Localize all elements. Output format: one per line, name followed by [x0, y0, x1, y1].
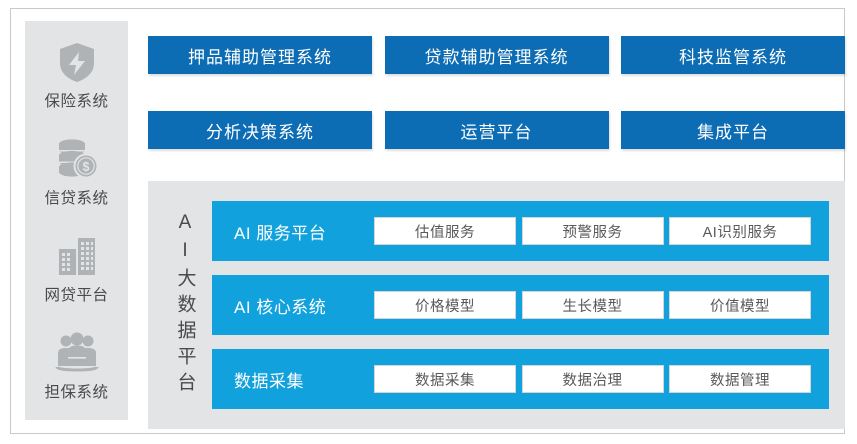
- buildings-icon: [53, 233, 101, 279]
- system-bar-operation-platform[interactable]: 运营平台: [385, 111, 609, 149]
- svg-text:$: $: [82, 160, 89, 174]
- platform-row-data-collection[interactable]: 数据采集 数据采集 数据治理 数据管理: [212, 349, 829, 409]
- top-systems-row-2: 分析决策系统 运营平台 集成平台: [148, 111, 845, 149]
- card-data-collection[interactable]: 数据采集: [374, 365, 516, 393]
- top-systems-row-1: 押品辅助管理系统 贷款辅助管理系统 科技监管系统: [148, 36, 845, 74]
- platform-row-title: AI 服务平台: [234, 219, 374, 244]
- people-group-icon: [53, 330, 101, 376]
- sidebar-item-label: 信贷系统: [44, 186, 108, 208]
- card-value-model[interactable]: 价值模型: [669, 291, 811, 319]
- platform-row-ai-core[interactable]: AI 核心系统 价格模型 生长模型 价值模型: [212, 275, 829, 335]
- system-bar-analysis-decision[interactable]: 分析决策系统: [148, 111, 372, 149]
- ai-bigdata-platform-panel: AI大数据平台 AI 服务平台 估值服务 预警服务 AI识别服务 AI 核心系统…: [148, 181, 845, 429]
- system-bar-collateral-management[interactable]: 押品辅助管理系统: [148, 36, 372, 74]
- card-ai-recognition-service[interactable]: AI识别服务: [669, 217, 811, 245]
- card-group: 价格模型 生长模型 价值模型: [374, 291, 829, 319]
- sidebar-item-label: 网贷平台: [44, 283, 108, 305]
- coins-dollar-icon: $: [53, 136, 101, 182]
- sidebar-item-insurance[interactable]: 保险系统: [25, 39, 128, 111]
- architecture-diagram: 保险系统 $: [10, 8, 845, 434]
- sidebar-item-guarantee[interactable]: 担保系统: [25, 330, 128, 402]
- platform-row-ai-service[interactable]: AI 服务平台 估值服务 预警服务 AI识别服务: [212, 201, 829, 261]
- card-early-warning-service[interactable]: 预警服务: [522, 217, 664, 245]
- card-group: 估值服务 预警服务 AI识别服务: [374, 217, 829, 245]
- card-growth-model[interactable]: 生长模型: [522, 291, 664, 319]
- sidebar-item-online-loan[interactable]: 网贷平台: [25, 233, 128, 305]
- card-valuation-service[interactable]: 估值服务: [374, 217, 516, 245]
- platform-rows: AI 服务平台 估值服务 预警服务 AI识别服务 AI 核心系统 价格模型 生长…: [212, 201, 829, 409]
- card-price-model[interactable]: 价格模型: [374, 291, 516, 319]
- platform-row-title: AI 核心系统: [234, 293, 374, 318]
- sidebar-item-label: 担保系统: [44, 380, 108, 402]
- sidebar-item-credit[interactable]: $ 信贷系统: [25, 136, 128, 208]
- shield-bolt-icon: [54, 39, 100, 85]
- system-bar-loan-management[interactable]: 贷款辅助管理系统: [385, 36, 609, 74]
- sidebar-item-label: 保险系统: [44, 89, 108, 111]
- card-data-management[interactable]: 数据管理: [669, 365, 811, 393]
- card-group: 数据采集 数据治理 数据管理: [374, 365, 829, 393]
- card-data-governance[interactable]: 数据治理: [522, 365, 664, 393]
- sidebar: 保险系统 $: [25, 21, 128, 420]
- platform-row-title: 数据采集: [234, 367, 374, 392]
- platform-vertical-label: AI大数据平台: [162, 195, 208, 415]
- system-bar-tech-supervision[interactable]: 科技监管系统: [621, 36, 845, 74]
- system-bar-integration-platform[interactable]: 集成平台: [621, 111, 845, 149]
